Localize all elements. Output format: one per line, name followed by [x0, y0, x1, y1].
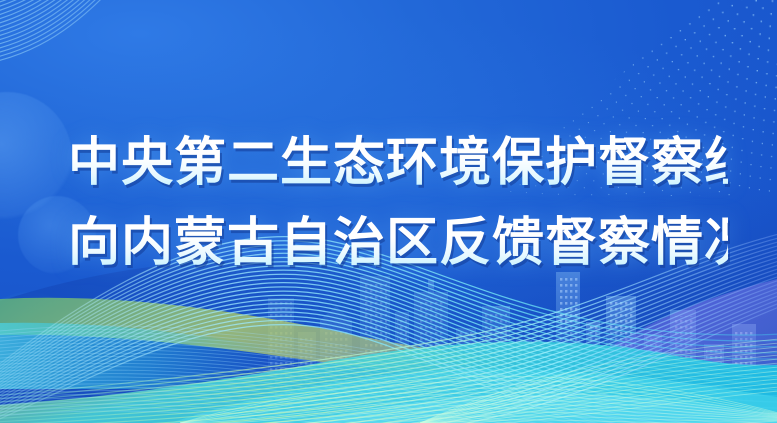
page-title: 中央第二生态环境保护督察组 向内蒙古自治区反馈督察情况: [68, 124, 728, 284]
banner-image: 中央第二生态环境保护督察组 向内蒙古自治区反馈督察情况: [0, 0, 777, 423]
ribbon-swirl-decoration: [0, 0, 390, 132]
title-line-2: 向内蒙古自治区反馈督察情况: [68, 204, 728, 284]
title-line-1: 中央第二生态环境保护督察组: [68, 124, 728, 204]
